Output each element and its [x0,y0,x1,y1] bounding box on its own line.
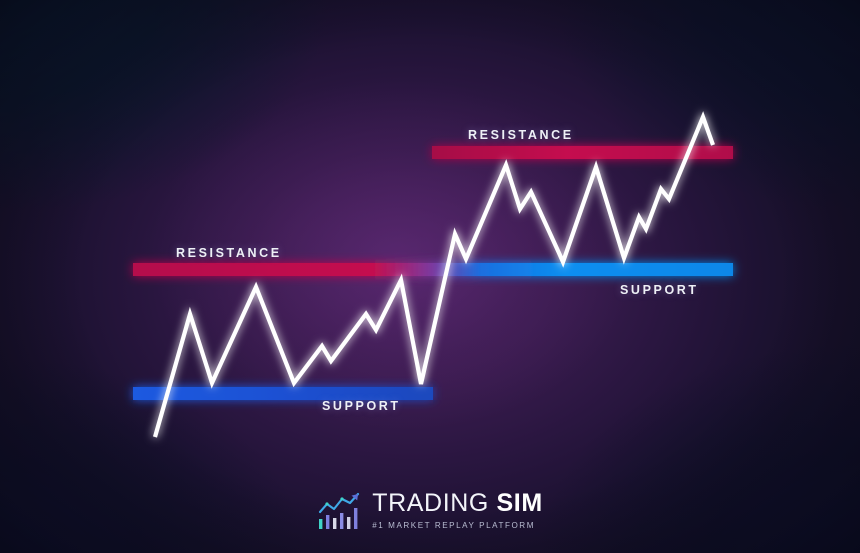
logo-wordmark: TRADING SIM [372,491,543,516]
zone-lower-resistance-support [133,263,733,276]
trading-chart-bars-arrow-icon [317,491,363,531]
logo-tagline: #1 MARKET REPLAY PLATFORM [372,522,535,530]
logo-word-sim: SIM [497,489,543,517]
brand-logo: TRADING SIM #1 MARKET REPLAY PLATFORM [0,491,860,531]
label-support-lower: SUPPORT [322,399,401,413]
price-chart-svg [0,0,860,553]
label-resistance-upper: RESISTANCE [468,128,574,142]
chart-illustration: RESISTANCE RESISTANCE SUPPORT SUPPORT TR… [0,0,860,553]
label-resistance-lower: RESISTANCE [176,246,282,260]
logo-word-trading: TRADING [372,489,496,517]
label-support-upper: SUPPORT [620,283,699,297]
